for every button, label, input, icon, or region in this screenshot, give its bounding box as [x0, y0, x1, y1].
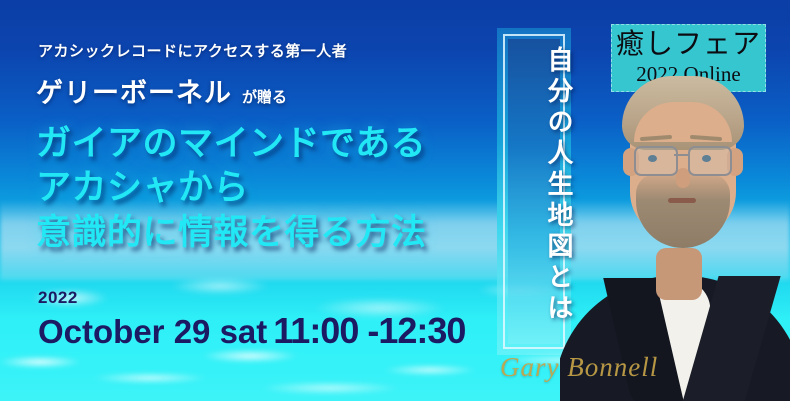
title-line-1: ガイアのマインドである — [36, 122, 427, 166]
portrait-glasses-bridge — [674, 154, 688, 156]
speaker-portrait — [560, 62, 790, 401]
kicker-text: アカシックレコードにアクセスする第一人者 — [38, 40, 347, 61]
event-datetime: 2022 October 29 sat11:00 -12:30 — [38, 288, 465, 352]
event-date-line: October 29 sat11:00 -12:30 — [38, 310, 465, 352]
portrait-neck — [656, 248, 702, 300]
event-poster: アカシックレコードにアクセスする第一人者 ゲリーボーネルが贈る ガイアのマインド… — [0, 0, 790, 401]
portrait-glasses-left-lens — [634, 146, 678, 176]
title-line-3: 意識的に情報を得る方法 — [36, 211, 427, 255]
speaker-name: ゲリーボーネル — [36, 78, 232, 108]
speaker-signature: Gary Bonnell — [500, 352, 658, 383]
logo-brand-jp: 癒しフェア — [612, 31, 765, 59]
event-date: October 29 sat — [38, 313, 267, 350]
event-year: 2022 — [38, 288, 465, 308]
portrait-mouth — [668, 198, 696, 203]
speaker-name-suffix: が贈る — [242, 89, 287, 106]
poster-title: ガイアのマインドである アカシャから 意識的に情報を得る方法 — [36, 122, 427, 255]
portrait-glasses-right-lens — [688, 146, 732, 176]
event-time: 11:00 -12:30 — [273, 310, 465, 351]
speaker-name-row: ゲリーボーネルが贈る — [36, 71, 287, 110]
title-line-2: アカシャから — [36, 166, 427, 210]
